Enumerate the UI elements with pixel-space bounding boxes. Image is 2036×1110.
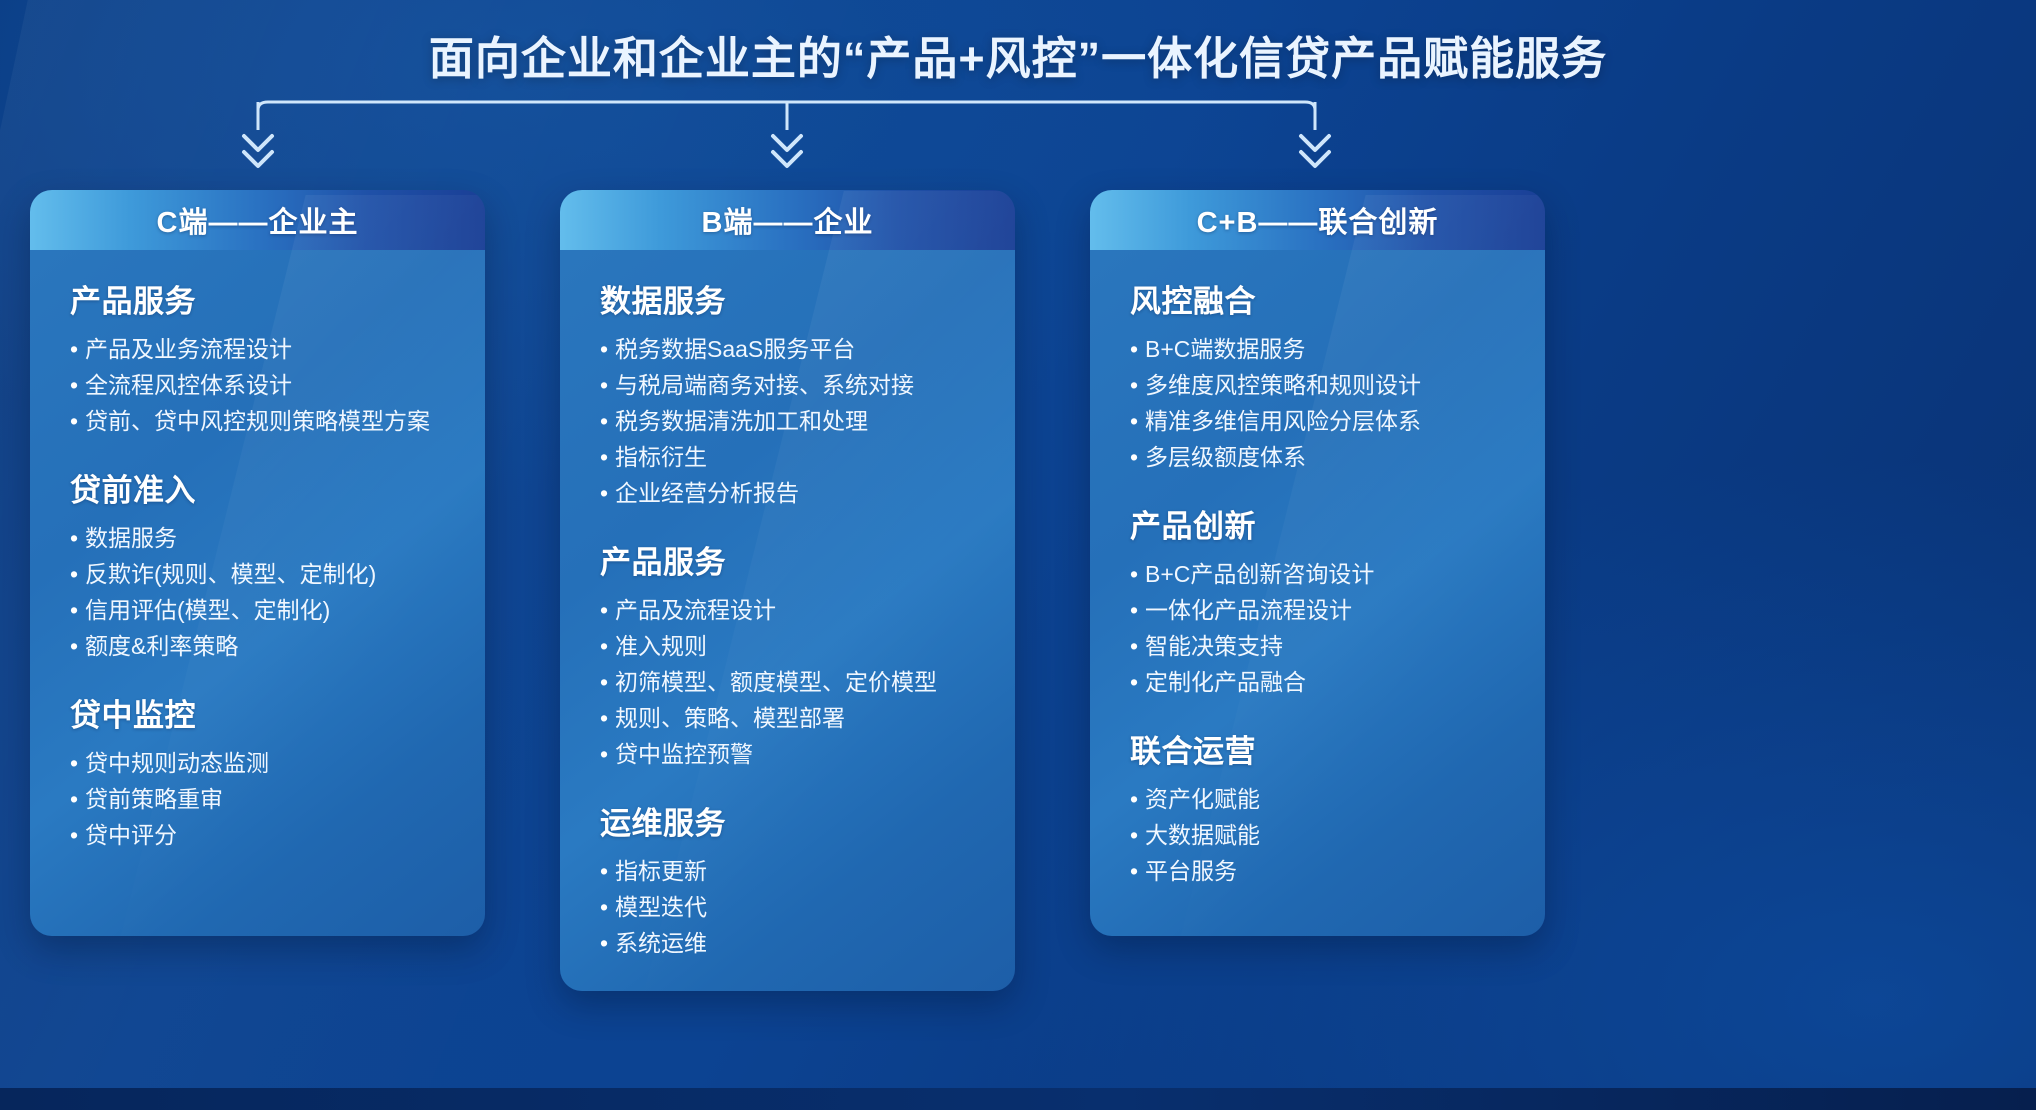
bullet-list: B+C产品创新咨询设计 一体化产品流程设计 智能决策支持 定制化产品融合 [1130,556,1519,700]
list-item: 信用评估(模型、定制化) [70,592,459,628]
list-item: 产品及业务流程设计 [70,331,459,367]
card-body-c-end: 产品服务 产品及业务流程设计 全流程风控体系设计 贷前、贷中风控规则策略模型方案… [30,250,485,936]
card-body-c-plus-b: 风控融合 B+C端数据服务 多维度风控策略和规则设计 精准多维信用风险分层体系 … [1090,250,1545,936]
bullet-list: 贷中规则动态监测 贷前策略重审 贷中评分 [70,745,459,853]
bullet-list: 税务数据SaaS服务平台 与税局端商务对接、系统对接 税务数据清洗加工和处理 指… [600,331,989,511]
double-chevron-down-icon [244,136,272,150]
list-item: 与税局端商务对接、系统对接 [600,367,989,403]
section-title: 产品服务 [600,537,989,582]
section-c-0: 产品服务 产品及业务流程设计 全流程风控体系设计 贷前、贷中风控规则策略模型方案 [30,276,485,439]
list-item: 贷中监控预警 [600,736,989,772]
section-title: 产品服务 [70,276,459,321]
list-item: 贷中评分 [70,817,459,853]
list-item: 额度&利率策略 [70,628,459,664]
card-header-c-end: C端——企业主 [30,190,485,250]
list-item: 反欺诈(规则、模型、定制化) [70,556,459,592]
list-item: 资产化赋能 [1130,781,1519,817]
section-cb-0: 风控融合 B+C端数据服务 多维度风控策略和规则设计 精准多维信用风险分层体系 … [1090,276,1545,475]
card-header-c-plus-b: C+B——联合创新 [1090,190,1545,250]
list-item: 指标更新 [600,853,989,889]
list-item: 定制化产品融合 [1130,664,1519,700]
list-item: 初筛模型、额度模型、定价模型 [600,664,989,700]
section-cb-2: 联合运营 资产化赋能 大数据赋能 平台服务 [1090,726,1545,889]
list-item: 指标衍生 [600,439,989,475]
list-item: 大数据赋能 [1130,817,1519,853]
list-item: 贷中规则动态监测 [70,745,459,781]
list-item: 规则、策略、模型部署 [600,700,989,736]
list-item: 多层级额度体系 [1130,439,1519,475]
bottom-bar [0,1088,2036,1110]
card-b-end[interactable]: B端——企业 数据服务 税务数据SaaS服务平台 与税局端商务对接、系统对接 税… [560,190,1015,991]
list-item: 产品及流程设计 [600,592,989,628]
section-cb-1: 产品创新 B+C产品创新咨询设计 一体化产品流程设计 智能决策支持 定制化产品融… [1090,501,1545,700]
bullet-list: 产品及流程设计 准入规则 初筛模型、额度模型、定价模型 规则、策略、模型部署 贷… [600,592,989,772]
slide-canvas: 面向企业和企业主的“产品+风控”一体化信贷产品赋能服务 C端——企业主 [0,0,2036,1110]
bullet-list: 产品及业务流程设计 全流程风控体系设计 贷前、贷中风控规则策略模型方案 [70,331,459,439]
card-c-plus-b[interactable]: C+B——联合创新 风控融合 B+C端数据服务 多维度风控策略和规则设计 精准多… [1090,190,1545,936]
list-item: B+C端数据服务 [1130,331,1519,367]
section-title: 贷前准入 [70,465,459,510]
list-item: 准入规则 [600,628,989,664]
card-body-b-end: 数据服务 税务数据SaaS服务平台 与税局端商务对接、系统对接 税务数据清洗加工… [560,250,1015,991]
list-item: 多维度风控策略和规则设计 [1130,367,1519,403]
list-item: 企业经营分析报告 [600,475,989,511]
bullet-list: 资产化赋能 大数据赋能 平台服务 [1130,781,1519,889]
section-title: 贷中监控 [70,690,459,735]
list-item: 数据服务 [70,520,459,556]
section-c-2: 贷中监控 贷中规则动态监测 贷前策略重审 贷中评分 [30,690,485,853]
list-item: 智能决策支持 [1130,628,1519,664]
list-item: 平台服务 [1130,853,1519,889]
connector-bracket [0,96,2036,186]
section-title: 运维服务 [600,798,989,843]
bullet-list: 指标更新 模型迭代 系统运维 [600,853,989,961]
list-item: 系统运维 [600,925,989,961]
section-b-1: 产品服务 产品及流程设计 准入规则 初筛模型、额度模型、定价模型 规则、策略、模… [560,537,1015,772]
list-item: 全流程风控体系设计 [70,367,459,403]
bullet-list: B+C端数据服务 多维度风控策略和规则设计 精准多维信用风险分层体系 多层级额度… [1130,331,1519,475]
section-b-2: 运维服务 指标更新 模型迭代 系统运维 [560,798,1015,961]
list-item: 贷前、贷中风控规则策略模型方案 [70,403,459,439]
section-b-0: 数据服务 税务数据SaaS服务平台 与税局端商务对接、系统对接 税务数据清洗加工… [560,276,1015,511]
bullet-list: 数据服务 反欺诈(规则、模型、定制化) 信用评估(模型、定制化) 额度&利率策略 [70,520,459,664]
section-title: 联合运营 [1130,726,1519,771]
list-item: 模型迭代 [600,889,989,925]
list-item: 精准多维信用风险分层体系 [1130,403,1519,439]
card-c-end[interactable]: C端——企业主 产品服务 产品及业务流程设计 全流程风控体系设计 贷前、贷中风控… [30,190,485,936]
list-item: 税务数据SaaS服务平台 [600,331,989,367]
list-item: B+C产品创新咨询设计 [1130,556,1519,592]
card-header-b-end: B端——企业 [560,190,1015,250]
section-c-1: 贷前准入 数据服务 反欺诈(规则、模型、定制化) 信用评估(模型、定制化) 额度… [30,465,485,664]
page-title: 面向企业和企业主的“产品+风控”一体化信贷产品赋能服务 [0,22,2036,87]
list-item: 一体化产品流程设计 [1130,592,1519,628]
section-title: 产品创新 [1130,501,1519,546]
section-title: 风控融合 [1130,276,1519,321]
list-item: 税务数据清洗加工和处理 [600,403,989,439]
list-item: 贷前策略重审 [70,781,459,817]
section-title: 数据服务 [600,276,989,321]
